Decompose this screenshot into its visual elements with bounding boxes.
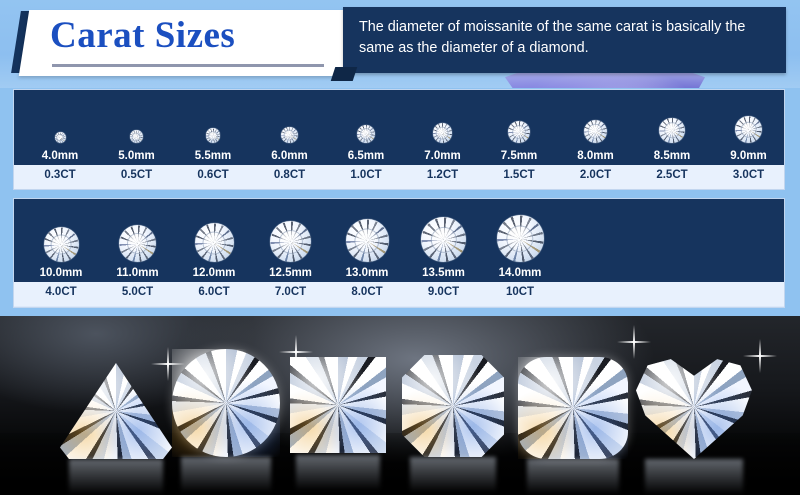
sparkle-icon: [743, 339, 777, 373]
carat-label: 4.0CT: [24, 286, 98, 298]
note-text: The diameter of moissanite of the same c…: [359, 17, 774, 59]
page-title: Carat Sizes: [50, 14, 340, 57]
size-cell: 14.0mm: [483, 215, 557, 282]
millimeter-label: 14.0mm: [483, 265, 557, 282]
diamond-reflection: [296, 455, 380, 495]
millimeter-label: 6.0mm: [253, 148, 327, 165]
size-cell: 12.0mm: [177, 223, 251, 282]
size-cell: 7.5mm: [482, 121, 556, 165]
size-cell: 9.0mm: [712, 116, 786, 165]
diamond-icon: [735, 116, 762, 143]
diamond-facets: [518, 357, 628, 459]
header-banner: Carat Sizes The diameter of moissanite o…: [0, 0, 800, 100]
diamond-facets: [172, 349, 280, 457]
diamond-icon: [497, 215, 544, 262]
carat-label: 1.5CT: [482, 169, 556, 181]
diamond-sheen: [518, 357, 628, 459]
diamond-cuts-photo: [0, 316, 800, 495]
carat-band-row-1: 0.3CT0.5CT0.6CT0.8CT1.0CT1.2CT1.5CT2.0CT…: [14, 165, 784, 189]
carat-label: 8.0CT: [330, 286, 404, 298]
diamond-facets: [402, 355, 504, 457]
title-banner: Carat Sizes: [19, 10, 355, 76]
diamond-icon: [195, 223, 234, 262]
size-cell: 11.0mm: [101, 225, 175, 282]
gem-strip-row-2: 10.0mm11.0mm12.0mm12.5mm13.0mm13.5mm14.0…: [14, 199, 784, 282]
carat-label: 7.0CT: [254, 286, 328, 298]
carat-label: 10CT: [483, 286, 557, 298]
size-cell: 10.0mm: [24, 227, 98, 282]
diamond-reflection: [181, 457, 272, 495]
diamond-sheen: [636, 355, 752, 459]
title-underline: [52, 64, 324, 67]
diamond-cushion-cut: [518, 357, 628, 459]
size-cell: 8.5mm: [635, 118, 709, 165]
size-cell: 13.5mm: [407, 217, 481, 282]
millimeter-label: 9.0mm: [712, 148, 786, 165]
sparkle-icon: [151, 347, 185, 381]
millimeter-label: 6.5mm: [329, 148, 403, 165]
millimeter-label: 13.0mm: [330, 265, 404, 282]
diamond-icon: [281, 127, 297, 143]
diamond-icon: [44, 227, 79, 262]
diamond-reflection: [645, 459, 742, 495]
carat-label: 0.3CT: [23, 169, 97, 181]
carat-label: 6.0CT: [177, 286, 251, 298]
size-chart-area: 4.0mm5.0mm5.5mm6.0mm6.5mm7.0mm7.5mm8.0mm…: [0, 88, 800, 316]
diamond-heart-cut: [636, 355, 752, 459]
carat-label: 0.5CT: [100, 169, 174, 181]
diamond-reflection: [410, 457, 496, 495]
carat-label: 1.2CT: [406, 169, 480, 181]
diamond-round-cut: [172, 349, 280, 457]
millimeter-label: 7.0mm: [406, 148, 480, 165]
carat-label: 9.0CT: [407, 286, 481, 298]
diamond-icon: [130, 130, 143, 143]
diamond-icon: [508, 121, 530, 143]
diamond-asscher-cut: [402, 355, 504, 457]
carat-label: 5.0CT: [101, 286, 175, 298]
diamond-icon: [206, 128, 221, 143]
carat-label: 0.6CT: [176, 169, 250, 181]
size-row-panel-2: 10.0mm11.0mm12.0mm12.5mm13.0mm13.5mm14.0…: [13, 198, 785, 308]
size-cell: 4.0mm: [23, 132, 97, 165]
diamond-icon: [119, 225, 156, 262]
carat-label: 3.0CT: [712, 169, 786, 181]
diamond-facets: [636, 355, 752, 459]
diamond-icon: [584, 120, 607, 143]
sparkle-icon: [279, 335, 313, 369]
diamond-sheen: [172, 349, 280, 457]
diamond-reflection: [527, 459, 619, 495]
carat-label: 1.0CT: [329, 169, 403, 181]
diamond-reflection: [69, 459, 163, 495]
diamond-icon: [346, 219, 389, 262]
note-box: The diameter of moissanite of the same c…: [343, 7, 786, 73]
size-cell: 6.0mm: [253, 127, 327, 165]
diamond-princess-cut: [288, 355, 388, 455]
size-cell: 5.5mm: [176, 128, 250, 165]
size-cell: 8.0mm: [559, 120, 633, 165]
diamond-sheen: [288, 355, 388, 455]
diamond-icon: [357, 125, 375, 143]
millimeter-label: 5.5mm: [176, 148, 250, 165]
millimeter-label: 7.5mm: [482, 148, 556, 165]
diamond-icon: [270, 221, 311, 262]
carat-band-row-2: 4.0CT5.0CT6.0CT7.0CT8.0CT9.0CT10CT: [14, 282, 784, 306]
carat-label: 2.0CT: [559, 169, 633, 181]
size-cell: 6.5mm: [329, 125, 403, 165]
millimeter-label: 10.0mm: [24, 265, 98, 282]
millimeter-label: 4.0mm: [23, 148, 97, 165]
diamond-sheen: [402, 355, 504, 457]
millimeter-label: 11.0mm: [101, 265, 175, 282]
millimeter-label: 8.5mm: [635, 148, 709, 165]
gem-strip-row-1: 4.0mm5.0mm5.5mm6.0mm6.5mm7.0mm7.5mm8.0mm…: [14, 90, 784, 165]
carat-size-chart-page: Carat Sizes The diameter of moissanite o…: [0, 0, 800, 495]
sparkle-icon: [617, 325, 651, 359]
size-row-panel-1: 4.0mm5.0mm5.5mm6.0mm6.5mm7.0mm7.5mm8.0mm…: [13, 89, 785, 190]
size-cell: 12.5mm: [254, 221, 328, 282]
size-cell: 7.0mm: [406, 123, 480, 165]
millimeter-label: 13.5mm: [407, 265, 481, 282]
carat-label: 0.8CT: [253, 169, 327, 181]
diamond-icon: [55, 132, 66, 143]
diamond-facets: [288, 355, 388, 455]
carat-label: 2.5CT: [635, 169, 709, 181]
diamond-icon: [659, 118, 684, 143]
millimeter-label: 8.0mm: [559, 148, 633, 165]
millimeter-label: 12.0mm: [177, 265, 251, 282]
millimeter-label: 12.5mm: [254, 265, 328, 282]
size-cell: 5.0mm: [100, 130, 174, 165]
diamond-icon: [421, 217, 466, 262]
diamond-icon: [433, 123, 453, 143]
size-cell: 13.0mm: [330, 219, 404, 282]
millimeter-label: 5.0mm: [100, 148, 174, 165]
